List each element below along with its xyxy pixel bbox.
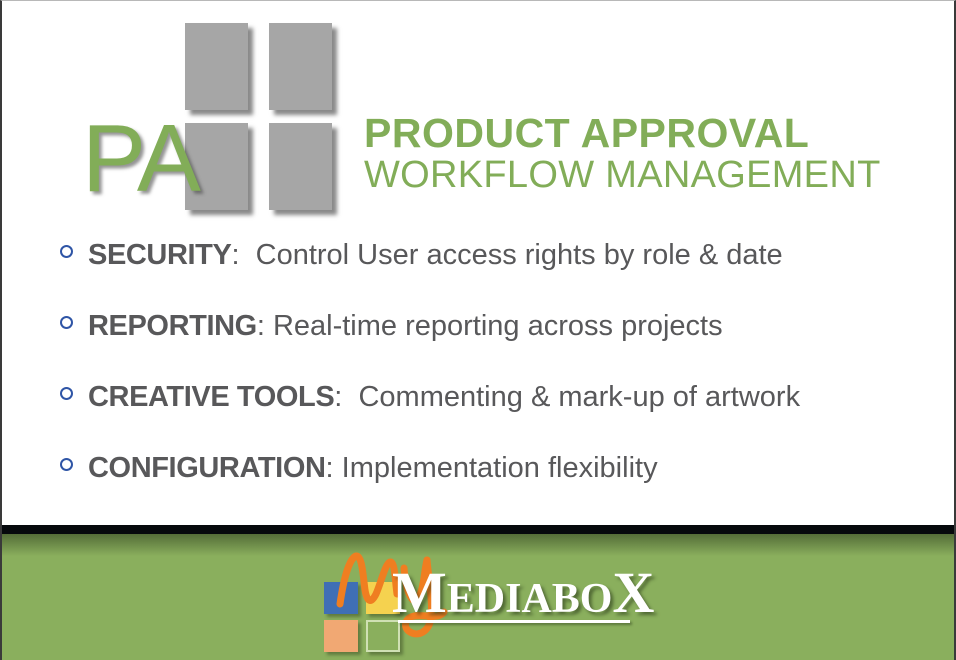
product-approval-logo: PA [82,19,347,214]
list-item: SECURITY: Control User access rights by … [60,241,940,312]
slide-footer: MEDIABOX [2,534,954,660]
mediabox-wordmark: MEDIABOX [392,564,654,622]
presentation-slide: PA PRODUCT APPROVAL WORKFLOW MANAGEMENT … [0,0,956,660]
list-item-separator: : [334,381,342,413]
list-item-text: CREATIVE TOOLS: Commenting & mark-up of … [88,383,800,412]
page-title: PRODUCT APPROVAL WORKFLOW MANAGEMENT [364,113,881,196]
wordmark-underline [398,620,630,623]
list-item-description: Control User access rights by role & dat… [256,239,783,271]
list-item-description: Implementation flexibility [342,452,658,484]
footer-divider [2,525,954,534]
list-item-description: Commenting & mark-up of artwork [358,381,800,413]
list-item-text: REPORTING: Real-time reporting across pr… [88,312,723,341]
title-primary: PRODUCT APPROVAL [364,113,881,155]
list-item: REPORTING: Real-time reporting across pr… [60,312,940,383]
circle-bullet-icon [60,458,73,471]
pa-square-top-left [185,23,248,110]
pa-monogram-text: PA [82,111,199,207]
list-item-term: REPORTING [88,310,257,342]
wordmark-x: X [612,560,654,625]
circle-bullet-icon [60,387,73,400]
wordmark-m: M [392,560,447,625]
pa-square-top-right [269,23,332,110]
list-item: CONFIGURATION: Implementation flexibilit… [60,454,940,525]
slide-header: PA PRODUCT APPROVAL WORKFLOW MANAGEMENT [2,1,954,229]
list-item-term: CREATIVE TOOLS [88,381,334,413]
title-secondary: WORKFLOW MANAGEMENT [364,155,881,196]
list-item-text: SECURITY: Control User access rights by … [88,241,783,270]
list-item-separator: : [257,310,265,342]
slide-body: PA PRODUCT APPROVAL WORKFLOW MANAGEMENT … [2,1,954,525]
list-item-separator: : [231,239,239,271]
wordmark-middle: EDIABO [447,576,613,622]
list-item-term: SECURITY [88,239,231,271]
list-item-separator: : [326,452,334,484]
list-item-text: CONFIGURATION: Implementation flexibilit… [88,454,658,483]
pa-square-bottom-right [269,123,332,210]
circle-bullet-icon [60,245,73,258]
list-item-term: CONFIGURATION [88,452,326,484]
mymediabox-logo: MEDIABOX [320,546,660,646]
feature-list: SECURITY: Control User access rights by … [60,241,940,525]
list-item-description: Real-time reporting across projects [273,310,723,342]
circle-bullet-icon [60,316,73,329]
list-item: CREATIVE TOOLS: Commenting & mark-up of … [60,383,940,454]
